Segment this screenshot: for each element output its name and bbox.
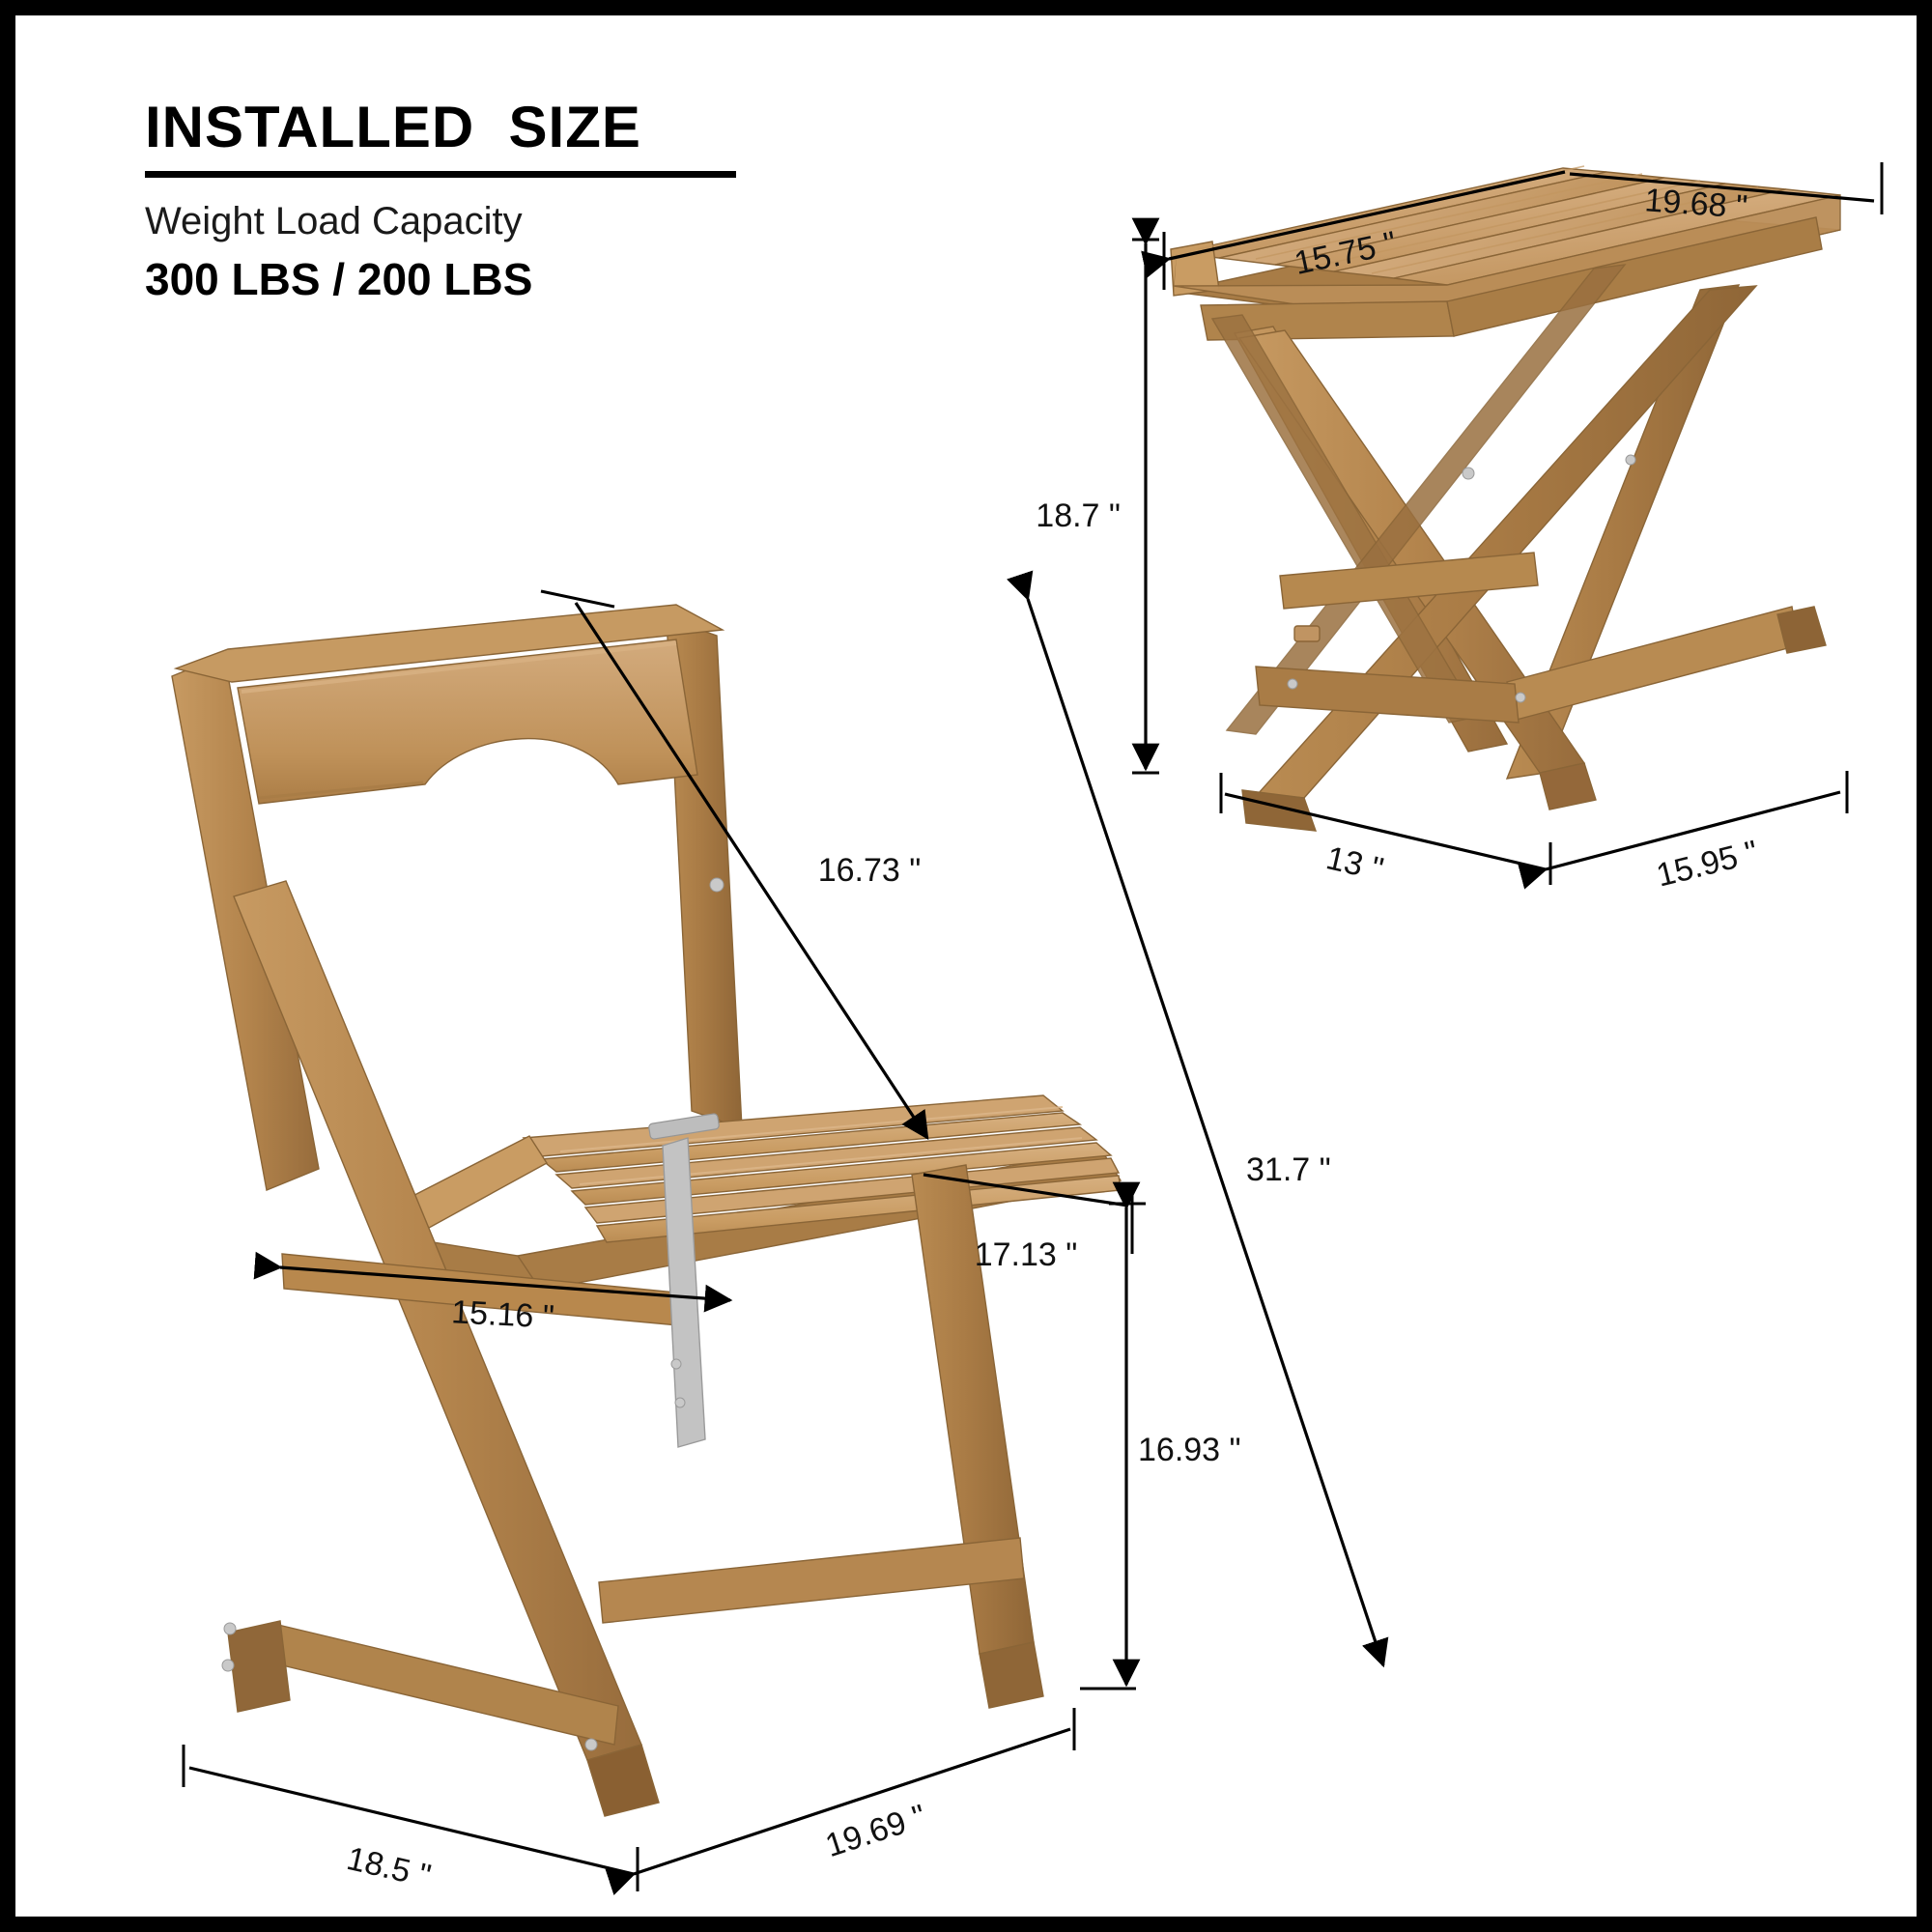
dim-chair-total-height: 31.7 " [1246, 1151, 1331, 1188]
weight-capacity-value: 300 LBS / 200 LBS [145, 253, 879, 306]
page-title: INSTALLED SIZE [145, 97, 879, 157]
dim-table-height: 18.7 " [1036, 497, 1121, 534]
dim-chair-base-depth: 18.5 " [343, 1840, 434, 1895]
chair-screw [224, 1623, 236, 1634]
dim-chair-seat-width: 15.16 " [450, 1293, 554, 1336]
weight-capacity-label: Weight Load Capacity [145, 197, 879, 245]
dim-chair-back-height: 16.73 " [818, 852, 922, 889]
folding-chair-illustration [172, 605, 1138, 1816]
spec-sheet: 15.75 " 19.68 " 18.7 " 13 " 15.95 " [0, 0, 1932, 1932]
screw [1288, 679, 1297, 689]
folding-side-table-illustration [1171, 166, 1840, 831]
dim-table-top-width: 19.68 " [1643, 182, 1748, 225]
screw [1516, 693, 1525, 702]
chair-screw [222, 1660, 234, 1671]
title-underline [145, 171, 736, 178]
dim-chair-seat-height: 16.93 " [1138, 1432, 1241, 1468]
dim-chair-seat-depth: 17.13 " [975, 1236, 1078, 1273]
chair-screw [585, 1739, 597, 1750]
table-stretchers [1252, 553, 1820, 723]
pivot-screw [1626, 455, 1635, 465]
dim-table-base-width: 15.95 " [1653, 834, 1762, 895]
table-hinge-block [1294, 626, 1320, 641]
header-block: INSTALLED SIZE Weight Load Capacity 300 … [145, 97, 879, 306]
dim-table-base-depth: 13 " [1322, 839, 1386, 888]
chair-pivot-screw [710, 878, 724, 892]
pivot-screw [1463, 468, 1474, 479]
